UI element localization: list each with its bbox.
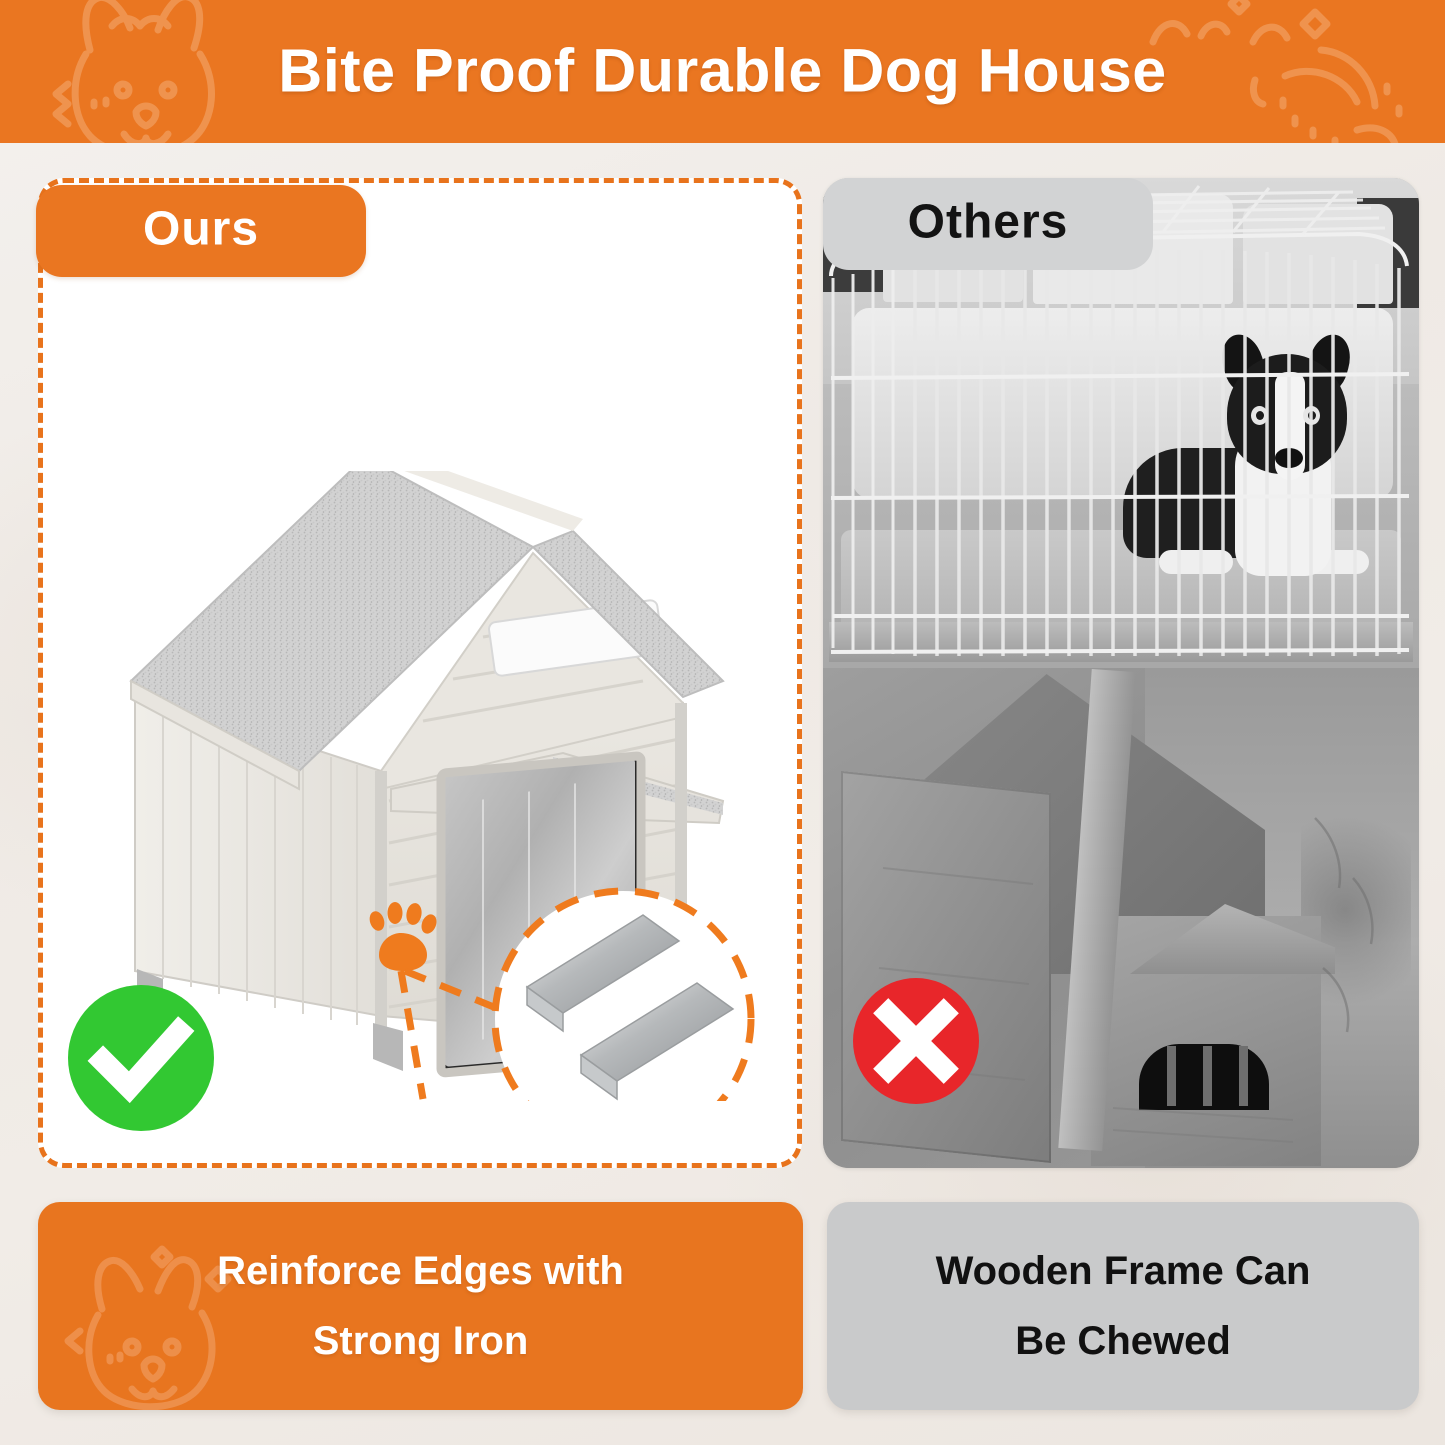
- broken-wooden-doghouse-photo: [823, 668, 1419, 1168]
- tab-ours-label: Ours: [36, 201, 366, 256]
- header-banner: Bite Proof Durable Dog House: [0, 0, 1445, 143]
- caption-others: Wooden Frame Can Be Chewed: [827, 1202, 1419, 1410]
- caption-ours-line2: Strong Iron: [38, 1306, 803, 1376]
- caption-others-text: Wooden Frame Can Be Chewed: [827, 1236, 1419, 1376]
- caption-ours-text: Reinforce Edges with Strong Iron: [38, 1236, 803, 1376]
- close-icon: [853, 978, 979, 1104]
- caption-ours-line1: Reinforce Edges with: [38, 1236, 803, 1306]
- plastic-dog-house-illustration: [123, 471, 823, 1101]
- page-title: Bite Proof Durable Dog House: [0, 35, 1445, 105]
- others-panel: [823, 178, 1419, 1168]
- caption-others-line1: Wooden Frame Can: [827, 1236, 1419, 1306]
- check-icon: [68, 985, 214, 1131]
- tab-ours[interactable]: Ours: [36, 185, 366, 277]
- caption-ours: Reinforce Edges with Strong Iron: [38, 1202, 803, 1410]
- tab-others-label: Others: [823, 194, 1153, 249]
- infographic-page: Bite Proof Durable Dog House: [0, 0, 1445, 1445]
- tab-others[interactable]: Others: [823, 178, 1153, 270]
- caption-others-line2: Be Chewed: [827, 1306, 1419, 1376]
